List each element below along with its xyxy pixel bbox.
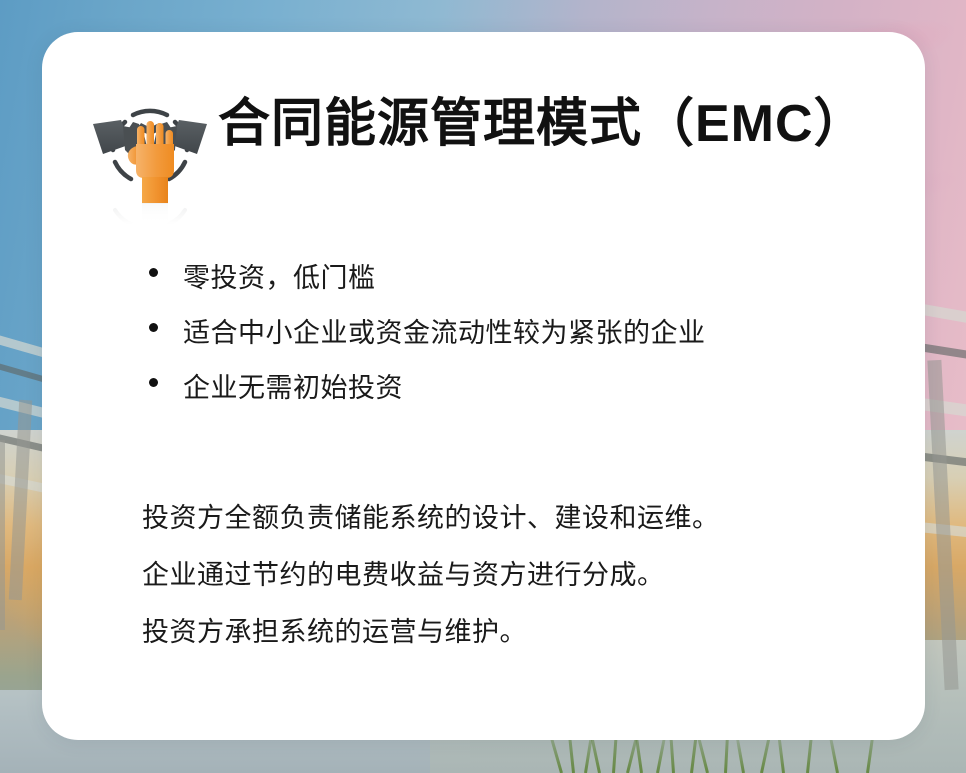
card-header: 合同能源管理模式（EMC）: [42, 32, 925, 217]
list-item: 企业无需初始投资: [146, 370, 886, 406]
list-item-label: 零投资，低门槛: [183, 263, 376, 293]
content-card: 合同能源管理模式（EMC） 零投资，低门槛 适合中小企业或资金流动性较为紧张的企…: [42, 32, 925, 740]
list-item-label: 适合中小企业或资金流动性较为紧张的企业: [183, 318, 706, 348]
bullet-dot-icon: [149, 268, 158, 277]
list-item: 适合中小企业或资金流动性较为紧张的企业: [146, 315, 886, 351]
page-title: 合同能源管理模式（EMC）: [218, 94, 867, 154]
description-line: 企业通过节约的电费收益与资方进行分成。: [142, 557, 902, 593]
panel-support-post: [0, 440, 5, 630]
list-item: 零投资，低门槛: [146, 260, 886, 296]
teamwork-hands-icon: [85, 78, 215, 224]
bullet-dot-icon: [149, 378, 158, 387]
description-line: 投资方全额负责储能系统的设计、建设和运维。: [142, 500, 902, 536]
bullet-dot-icon: [149, 323, 158, 332]
description-line: 投资方承担系统的运营与维护。: [142, 614, 902, 650]
list-item-label: 企业无需初始投资: [183, 373, 403, 403]
feature-bullet-list: 零投资，低门槛 适合中小企业或资金流动性较为紧张的企业 企业无需初始投资: [146, 260, 886, 425]
description-block: 投资方全额负责储能系统的设计、建设和运维。 企业通过节约的电费收益与资方进行分成…: [142, 500, 902, 671]
